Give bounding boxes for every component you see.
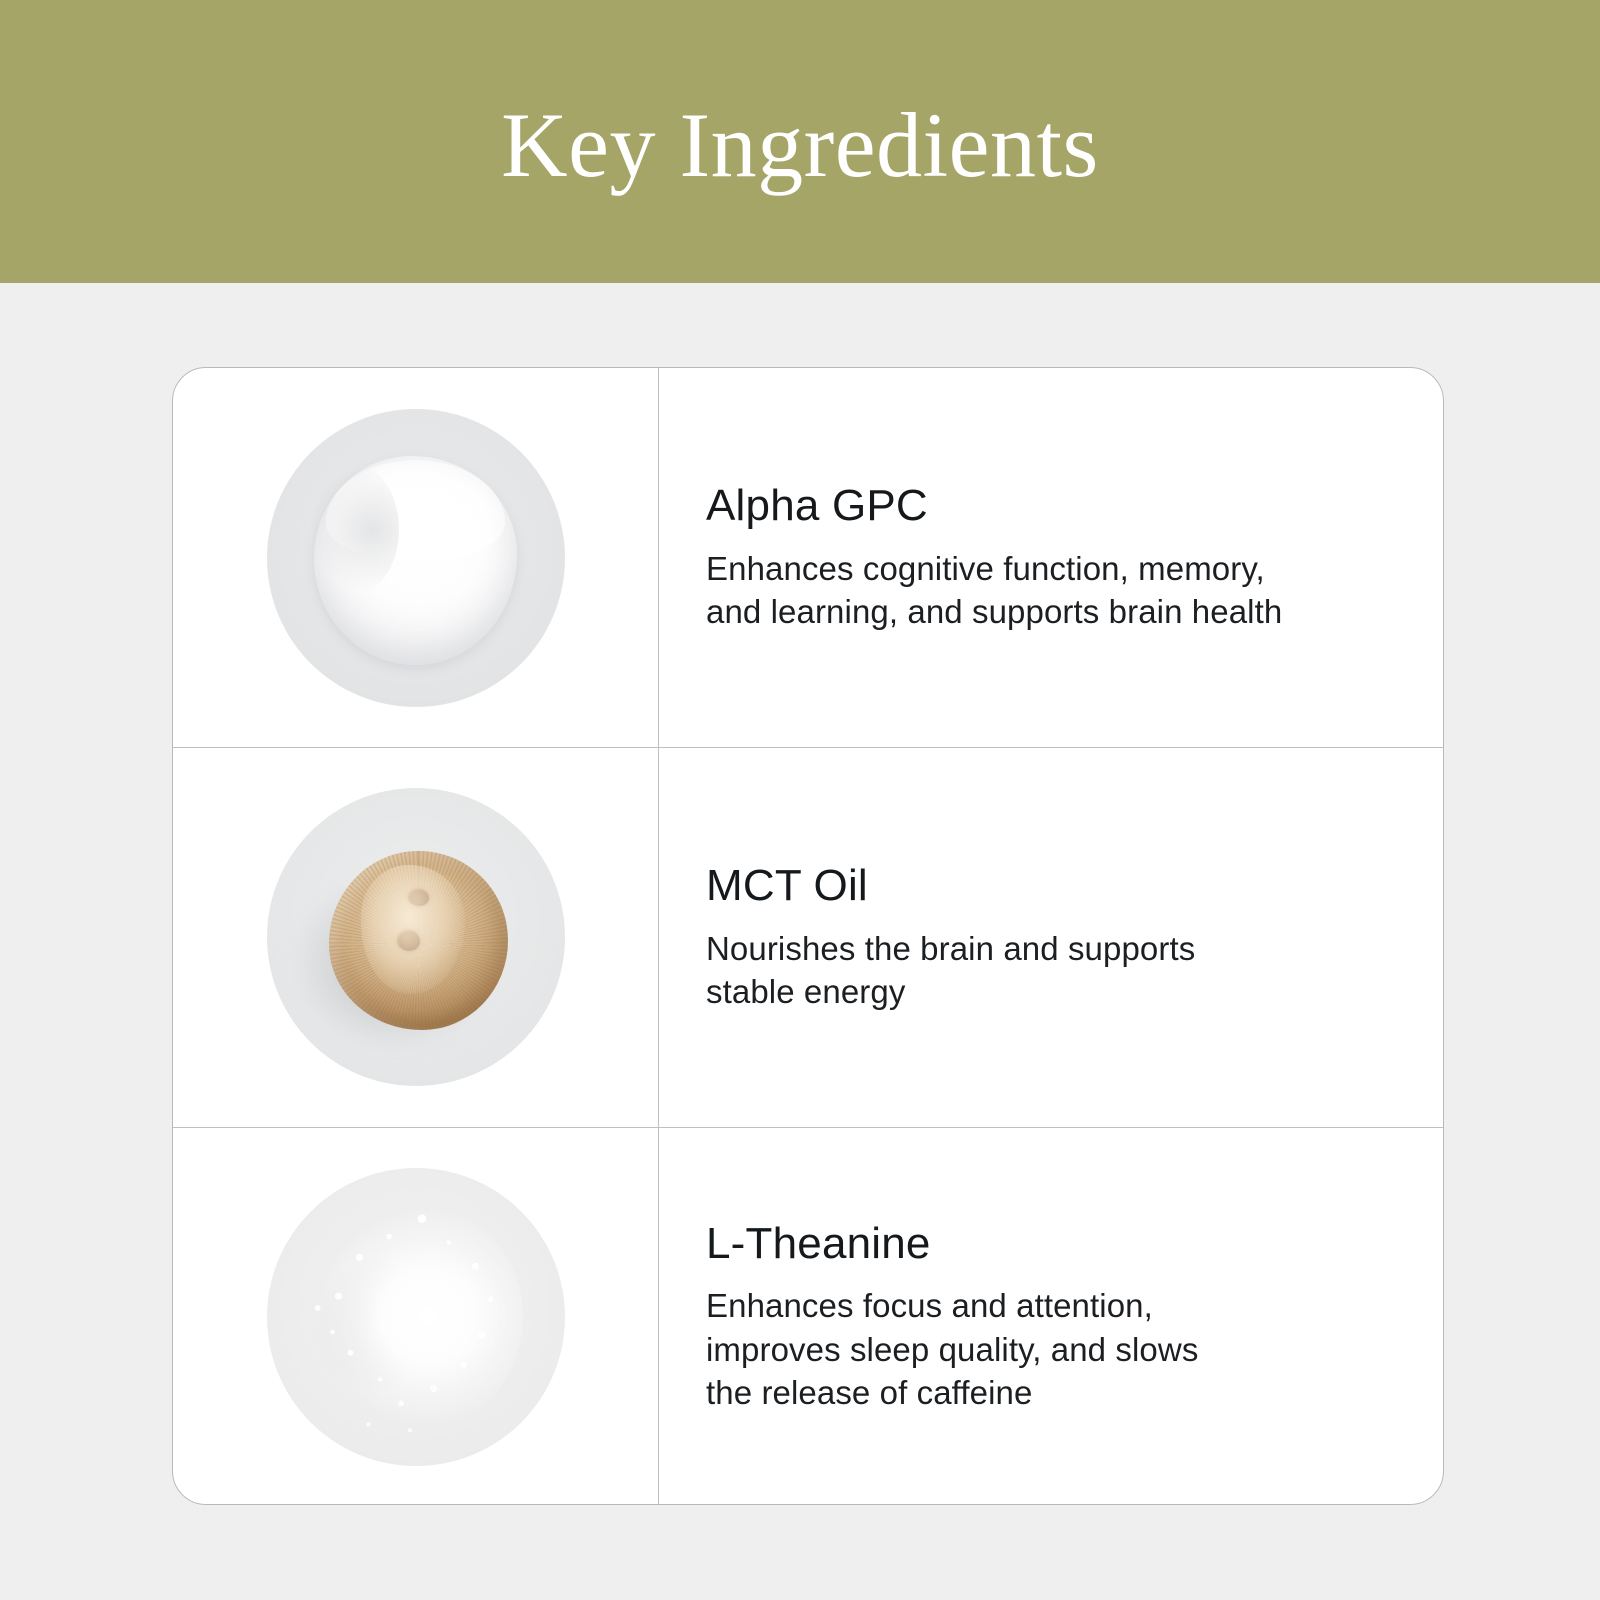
ingredient-text-cell-alpha-gpc: Alpha GPC Enhances cognitive function, m… <box>659 368 1443 747</box>
ingredient-name: MCT Oil <box>706 861 1403 910</box>
page-header: Key Ingredients <box>0 0 1600 283</box>
powder-heap-shape <box>314 456 517 665</box>
coconut-photo <box>267 788 565 1086</box>
ingredient-description: Enhances cognitive function, memory, and… <box>706 547 1403 634</box>
ingredient-image-cell-l-theanine <box>173 1128 659 1505</box>
white-powder-heap-photo <box>267 409 565 707</box>
ingredient-text-cell-mct-oil: MCT Oil Nourishes the brain and supports… <box>659 748 1443 1126</box>
ingredient-row-mct-oil: MCT Oil Nourishes the brain and supports… <box>173 747 1443 1126</box>
ingredients-card: Alpha GPC Enhances cognitive function, m… <box>172 367 1444 1505</box>
ingredient-row-l-theanine: L-Theanine Enhances focus and attention,… <box>173 1127 1443 1505</box>
powder-grains-shape <box>267 1168 565 1466</box>
coconut-eye-icon <box>408 889 429 907</box>
ingredient-image-cell-mct-oil <box>173 748 659 1126</box>
ingredient-text-cell-l-theanine: L-Theanine Enhances focus and attention,… <box>659 1128 1443 1505</box>
ingredient-name: Alpha GPC <box>706 481 1403 530</box>
ingredient-description: Enhances focus and attention, improves s… <box>706 1284 1403 1415</box>
ingredient-image-cell-alpha-gpc <box>173 368 659 747</box>
ingredient-row-alpha-gpc: Alpha GPC Enhances cognitive function, m… <box>173 368 1443 747</box>
ingredient-description: Nourishes the brain and supports stable … <box>706 927 1403 1014</box>
ingredient-name: L-Theanine <box>706 1219 1403 1268</box>
page-title: Key Ingredients <box>501 99 1099 191</box>
coconut-eye-icon <box>397 930 420 951</box>
coconut-body-shape <box>329 851 508 1030</box>
crystalline-powder-photo <box>267 1168 565 1466</box>
